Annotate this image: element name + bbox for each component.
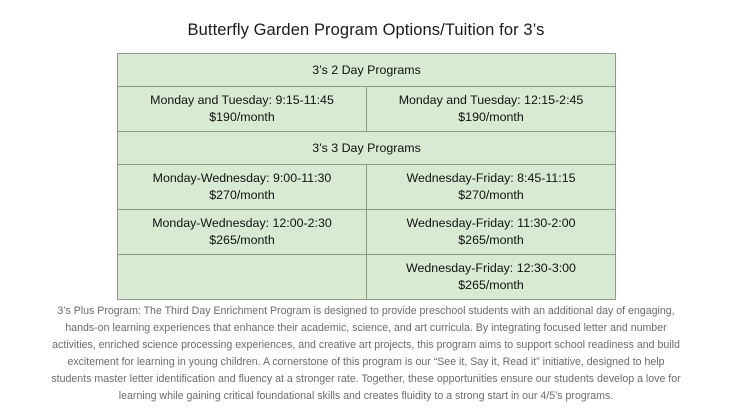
program-schedule: Monday and Tuesday: 9:15-11:45 — [124, 92, 360, 109]
program-option-cell: Monday-Wednesday: 12:00-2:30 $265/month — [118, 210, 367, 255]
table-row: Monday-Wednesday: 12:00-2:30 $265/month … — [118, 210, 616, 255]
program-schedule: Wednesday-Friday: 8:45-11:15 — [373, 170, 609, 187]
program-price: $265/month — [373, 277, 609, 294]
program-option-cell: Monday and Tuesday: 9:15-11:45 $190/mont… — [118, 87, 367, 132]
section-heading-2-day: 3’s 2 Day Programs — [118, 54, 616, 87]
program-option-cell: Wednesday-Friday: 8:45-11:15 $270/month — [367, 165, 616, 210]
plus-program-description: 3’s Plus Program: The Third Day Enrichme… — [46, 303, 686, 406]
tuition-flyer-page: Butterfly Garden Program Options/Tuition… — [0, 0, 732, 414]
program-schedule: Monday-Wednesday: 9:00-11:30 — [124, 170, 360, 187]
program-price: $265/month — [373, 232, 609, 249]
tuition-table: 3’s 2 Day Programs Monday and Tuesday: 9… — [117, 53, 616, 300]
program-option-cell: Monday-Wednesday: 9:00-11:30 $270/month — [118, 165, 367, 210]
page-title: Butterfly Garden Program Options/Tuition… — [0, 20, 732, 40]
program-option-cell-empty — [118, 255, 367, 300]
program-option-cell: Wednesday-Friday: 11:30-2:00 $265/month — [367, 210, 616, 255]
program-price: $190/month — [124, 109, 360, 126]
table-row: Monday and Tuesday: 9:15-11:45 $190/mont… — [118, 87, 616, 132]
program-schedule: Monday-Wednesday: 12:00-2:30 — [124, 215, 360, 232]
program-schedule: Wednesday-Friday: 11:30-2:00 — [373, 215, 609, 232]
table-row: 3’s 3 Day Programs — [118, 132, 616, 165]
program-price: $190/month — [373, 109, 609, 126]
program-schedule: Monday and Tuesday: 12:15-2:45 — [373, 92, 609, 109]
section-heading-3-day: 3’s 3 Day Programs — [118, 132, 616, 165]
program-schedule: Wednesday-Friday: 12:30-3:00 — [373, 260, 609, 277]
table-row: Monday-Wednesday: 9:00-11:30 $270/month … — [118, 165, 616, 210]
program-price: $270/month — [124, 187, 360, 204]
table-row: Wednesday-Friday: 12:30-3:00 $265/month — [118, 255, 616, 300]
program-price: $270/month — [373, 187, 609, 204]
program-option-cell: Wednesday-Friday: 12:30-3:00 $265/month — [367, 255, 616, 300]
program-price: $265/month — [124, 232, 360, 249]
table-row: 3’s 2 Day Programs — [118, 54, 616, 87]
program-option-cell: Monday and Tuesday: 12:15-2:45 $190/mont… — [367, 87, 616, 132]
